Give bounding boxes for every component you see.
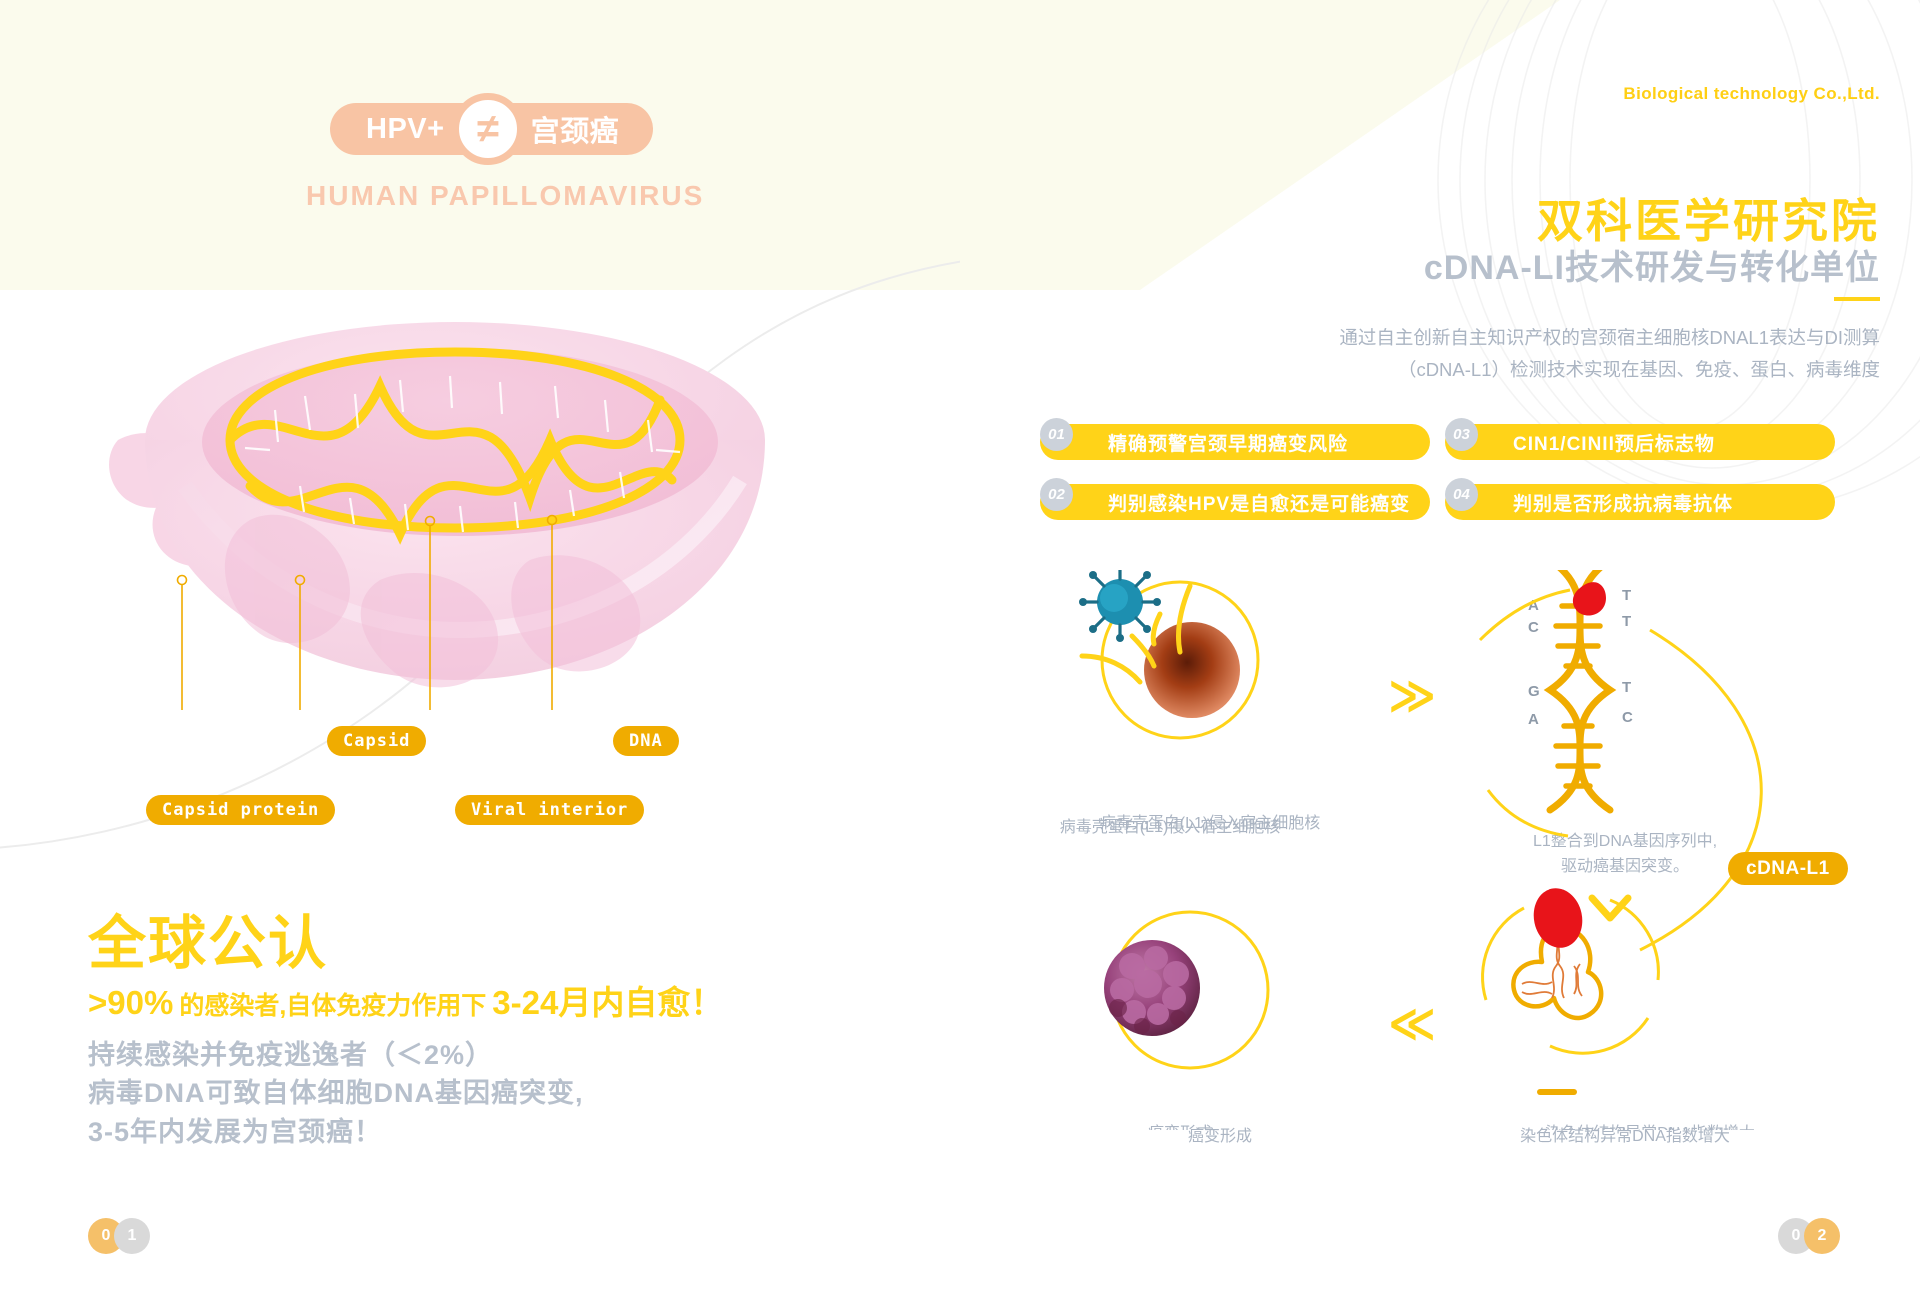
- right-panel: Biological technology Co.,Ltd. 双科医学研究院 c…: [1040, 0, 1920, 1303]
- hpv-badge-right-text: 宫颈癌: [531, 108, 620, 150]
- stat-suffix: 3-24月内自愈！: [492, 976, 723, 1024]
- stat-prefix: >90%: [88, 984, 173, 1022]
- callout-capsid: Capsid: [327, 726, 426, 756]
- callout-viral-interior: Viral interior: [455, 795, 644, 825]
- callout-capsid-protein: Capsid protein: [146, 795, 335, 825]
- stat-middle: 的感染者,自体免疫力作用下: [179, 986, 486, 1022]
- self-healing-stat: >90% 的感染者,自体免疫力作用下 3-24月内自愈！: [88, 976, 723, 1024]
- not-equal-icon: ≠: [452, 93, 524, 165]
- arrow-down-icon: [1580, 880, 1640, 940]
- cdna-l1-pill: cDNA-L1: [1728, 852, 1848, 885]
- persistent-infection-paragraph: 持续感染并免疫逃逸者（＜2%） 病毒DNA可致自体细胞DNA基因癌突变, 3-5…: [88, 1036, 584, 1151]
- title-divider: [1834, 297, 1880, 301]
- company-name: Biological technology Co.,Ltd.: [1623, 84, 1880, 104]
- global-recognition-title: 全球公认: [88, 896, 328, 980]
- hpv-subtitle: HUMAN PAPILLOMAVIRUS: [306, 180, 704, 212]
- org-description: 通过自主创新自主知识产权的宫颈宿主细胞核DNAL1表达与DI测算 （cDNA-L…: [1280, 322, 1880, 386]
- not-equal-glyph: ≠: [477, 109, 499, 149]
- hpv-badge-left-text: HPV+: [366, 113, 445, 146]
- virus-illustration: [100, 290, 840, 710]
- org-subtitle: cDNA-LI技术研发与转化单位: [1424, 240, 1880, 289]
- left-panel: HPV+ 宫颈癌 ≠ HUMAN PAPILLOMAVIRUS: [0, 0, 1040, 1303]
- callout-dna: DNA: [613, 726, 679, 756]
